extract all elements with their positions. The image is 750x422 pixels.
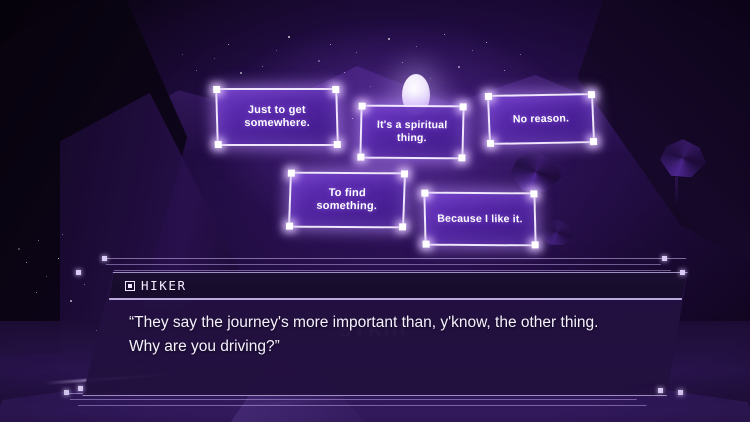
card-corner-node [359, 103, 366, 110]
frame-node [102, 256, 107, 261]
frame-node [76, 270, 81, 275]
dialogue-line: Why are you driving?” [129, 335, 641, 359]
dialogue-text: “They say the journey's more important t… [129, 311, 641, 358]
dialogue-panel: HIKER “They say the journey's more impor… [80, 272, 690, 396]
choice-label: No reason. [513, 112, 570, 126]
frame-node [662, 256, 667, 261]
card-corner-node [288, 170, 295, 177]
choice-label: Just to get somewhere. [226, 104, 329, 131]
card-corner-node [590, 138, 597, 145]
card-corner-node [588, 91, 595, 98]
choice-label: To find something. [299, 186, 396, 213]
card-corner-node [460, 103, 467, 110]
card-corner-node [421, 190, 428, 197]
tree-trunk [675, 177, 678, 211]
choice-label: It's a spiritual thing. [370, 119, 455, 145]
frame-node [64, 390, 69, 395]
choice-label: Because I like it. [437, 212, 523, 225]
card-corner-node [334, 141, 341, 148]
dialogue-header: HIKER [81, 273, 689, 300]
dialogue-choice-card[interactable]: Just to get somewhere. [215, 88, 339, 146]
card-corner-node [487, 140, 494, 147]
card-corner-node [332, 86, 339, 93]
game-viewport: Just to get somewhere. It's a spiritual … [0, 0, 750, 422]
square-in-square-icon [125, 281, 135, 291]
card-corner-node [530, 190, 537, 197]
card-corner-node [286, 223, 293, 230]
card-corner-node [215, 141, 222, 148]
dialogue-choice-card[interactable]: Because I like it. [423, 192, 536, 247]
dialogue-choice-card[interactable]: To find something. [288, 172, 406, 229]
card-corner-node [357, 154, 364, 161]
card-corner-node [213, 86, 220, 93]
speaker-name-group: HIKER [125, 278, 187, 293]
card-corner-node [423, 241, 430, 248]
dialogue-line: “They say the journey's more important t… [129, 311, 641, 335]
speaker-name: HIKER [141, 278, 187, 293]
card-corner-node [458, 154, 465, 161]
card-corner-node [401, 170, 408, 177]
dialogue-choice-card[interactable]: No reason. [487, 93, 595, 145]
frame-node [658, 388, 663, 393]
frame-node [678, 390, 683, 395]
frame-node [78, 386, 83, 391]
frame-node [680, 270, 685, 275]
dialogue-box[interactable]: HIKER “They say the journey's more impor… [66, 258, 690, 394]
card-corner-node [485, 93, 492, 100]
dialogue-choice-card[interactable]: It's a spiritual thing. [359, 105, 464, 160]
card-corner-node [532, 241, 539, 248]
card-corner-node [399, 223, 406, 230]
